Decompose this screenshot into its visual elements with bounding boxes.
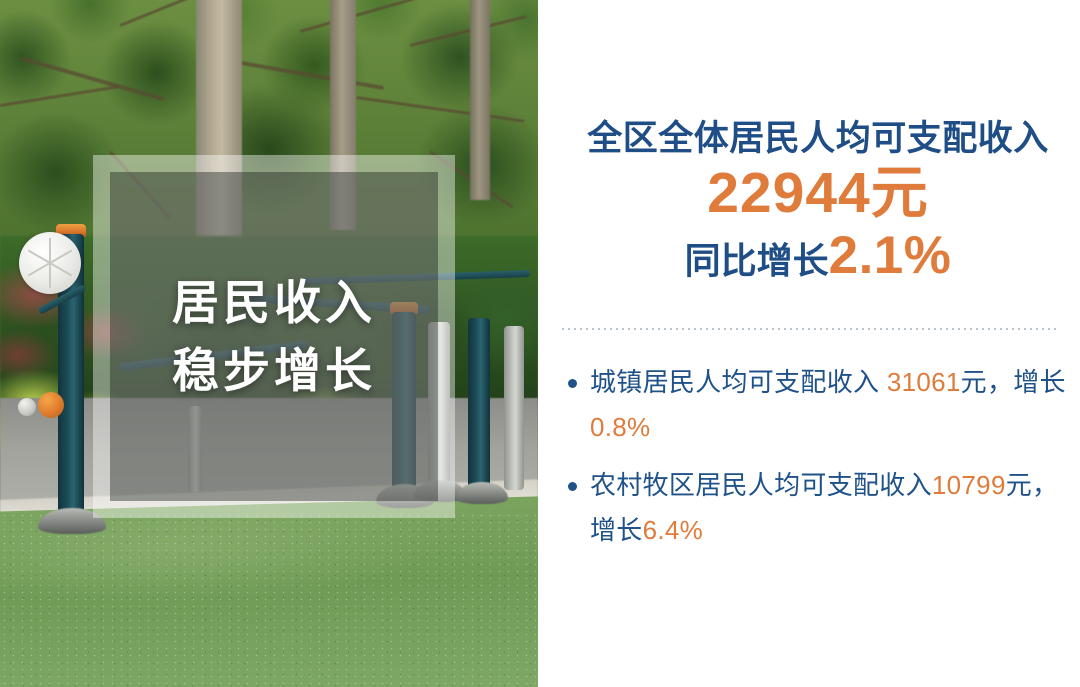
gray-knob: [18, 398, 36, 416]
turf-texture: [0, 512, 538, 687]
growth-number: 2.1%: [829, 226, 952, 285]
park-photo: 居民收入 稳步增长: [0, 0, 538, 687]
bullet-list: 城镇居民人均可支配收入 31061元，增长0.8% 农村牧区居民人均可支配收入1…: [562, 360, 1074, 567]
headline-value: 22944元: [560, 163, 1076, 225]
bullet-dot-icon: [568, 482, 577, 491]
bullet-amount: 10799: [932, 470, 1006, 500]
caption-line-2: 稳步增长: [172, 343, 376, 398]
bullet-prefix: 城镇居民人均可支配收入: [590, 367, 887, 397]
infographic-slide: 居民收入 稳步增长 全区全体居民人均可支配收入 22944元 同比增长2.1% …: [0, 0, 1080, 687]
orange-knob: [38, 392, 64, 418]
headline-block: 全区全体居民人均可支配收入 22944元 同比增长2.1%: [560, 118, 1076, 285]
equipment-pole-far-right: [504, 326, 524, 490]
bullet-rate: 6.4%: [643, 515, 703, 545]
tree-trunk-far-right: [470, 0, 490, 200]
bullet-amount: 31061: [887, 367, 961, 397]
bullet-rate: 0.8%: [590, 412, 650, 442]
photo-caption: 居民收入 稳步增长: [110, 172, 438, 501]
bullet-text: 农村牧区居民人均可支配收入10799元，增长6.4%: [590, 463, 1074, 552]
caption-line-1: 居民收入: [172, 275, 376, 330]
arm-wheel-disc: [19, 232, 81, 294]
info-panel: 全区全体居民人均可支配收入 22944元 同比增长2.1% 城镇居民人均可支配收…: [538, 0, 1080, 687]
list-item: 农村牧区居民人均可支配收入10799元，增长6.4%: [562, 463, 1074, 552]
equipment-pole-right: [468, 318, 490, 494]
bullet-text: 城镇居民人均可支配收入 31061元，增长0.8%: [590, 360, 1074, 449]
bullet-prefix: 农村牧区居民人均可支配收入: [590, 470, 932, 500]
bullet-mid: 元，增长: [961, 367, 1066, 397]
page-title: 全区全体居民人均可支配收入: [560, 118, 1076, 159]
growth-label: 同比增长: [685, 240, 829, 281]
headline-growth: 同比增长2.1%: [560, 227, 1076, 285]
dotted-divider: [562, 328, 1060, 330]
bullet-dot-icon: [568, 379, 577, 388]
list-item: 城镇居民人均可支配收入 31061元，增长0.8%: [562, 360, 1074, 449]
